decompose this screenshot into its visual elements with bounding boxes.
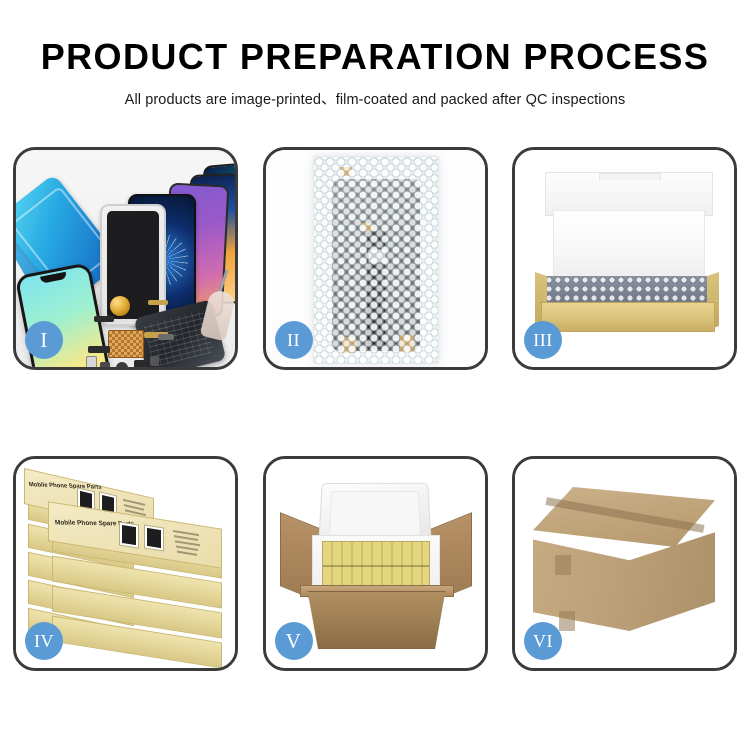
sealed-shipping-carton-image: VI bbox=[515, 459, 734, 668]
process-step-panel-2: II bbox=[263, 147, 488, 370]
screen-image-swatch-icon bbox=[119, 521, 139, 548]
circuit-chip-icon bbox=[108, 330, 144, 358]
label-line-icon bbox=[176, 545, 198, 550]
header: PRODUCT PREPARATION PROCESS All products… bbox=[0, 0, 750, 109]
process-step-panel-4: Mobile Phone Spare Parts Mobile Phone Sp… bbox=[13, 456, 238, 671]
bubble-padding-icon bbox=[545, 276, 709, 302]
process-step-panel-5: V bbox=[263, 456, 488, 671]
small-part-icon bbox=[88, 346, 110, 353]
label-line-icon bbox=[174, 535, 198, 540]
process-step-panel-1: I bbox=[13, 147, 238, 370]
small-part-icon bbox=[116, 362, 128, 367]
phone-parts-collage-image: I bbox=[16, 150, 235, 367]
carton-front-icon bbox=[302, 591, 452, 649]
white-foam-sheet-icon bbox=[553, 210, 705, 280]
small-part-icon bbox=[94, 316, 114, 322]
process-step-panel-3: III bbox=[512, 147, 737, 370]
phone-notch-icon bbox=[40, 272, 67, 284]
step-badge-6: VI bbox=[524, 622, 562, 660]
step-badge-5: V bbox=[275, 622, 313, 660]
process-step-panel-6: VI bbox=[512, 456, 737, 671]
bubble-wrap-bag-icon bbox=[313, 156, 439, 364]
small-part-icon bbox=[158, 334, 174, 340]
gold-speaker-coil-icon bbox=[110, 296, 130, 316]
stacked-retail-boxes-image: Mobile Phone Spare Parts Mobile Phone Sp… bbox=[16, 459, 235, 668]
step-badge-1: I bbox=[25, 321, 63, 359]
flex-cable-icon bbox=[148, 300, 168, 305]
page-subtitle: All products are image-printed、film-coat… bbox=[0, 88, 750, 109]
small-part-icon bbox=[134, 360, 147, 367]
tape-patch-icon bbox=[555, 555, 571, 575]
page-title: PRODUCT PREPARATION PROCESS bbox=[0, 38, 750, 76]
tape-patch-icon bbox=[559, 611, 575, 631]
small-part-icon bbox=[150, 356, 159, 366]
small-part-icon bbox=[86, 356, 97, 367]
kraft-box-front-icon bbox=[541, 302, 715, 332]
process-step-grid: I II I bbox=[13, 147, 737, 671]
step-badge-3: III bbox=[524, 321, 562, 359]
small-part-icon bbox=[100, 362, 110, 367]
open-kraft-box-image: III bbox=[515, 150, 734, 367]
packed-retail-boxes-icon bbox=[322, 541, 430, 589]
bubble-texture-icon bbox=[314, 157, 438, 363]
screen-image-swatch-icon bbox=[144, 524, 164, 551]
step-badge-2: II bbox=[275, 321, 313, 359]
step-badge-4: IV bbox=[25, 622, 63, 660]
label-line-icon bbox=[177, 551, 197, 556]
carton-with-styrofoam-image: V bbox=[266, 459, 485, 668]
bubble-wrapped-screen-image: II bbox=[266, 150, 485, 367]
